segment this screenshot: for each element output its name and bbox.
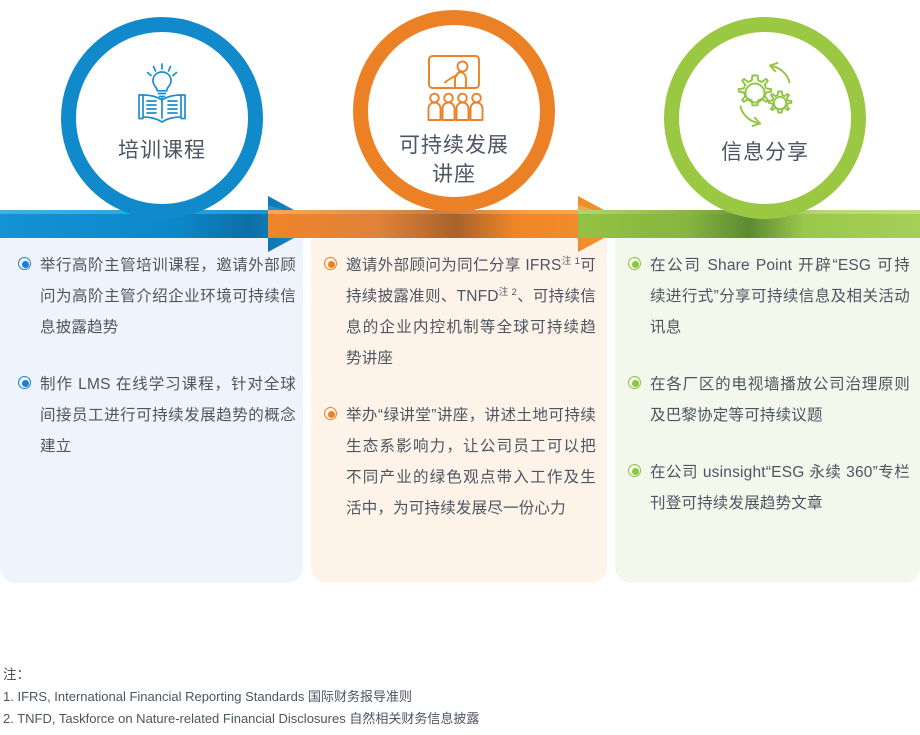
step-circle-sharing[interactable]: 信息分享 [664, 17, 866, 219]
list-item: 举行高阶主管培训课程，邀请外部顾问为高阶主管介绍企业环境可持续信息披露趋势 [18, 250, 296, 343]
list-item-text: 在各厂区的电视墙播放公司治理原则及巴黎协定等可持续议题 [650, 369, 910, 431]
list-item: 在公司 Share Point 开辟“ESG 可持续进行式”分享可持续信息及相关… [628, 250, 910, 343]
step-title-lecture-line2: 讲座 [399, 160, 509, 189]
open-book-lightbulb-icon [128, 60, 196, 126]
footnote-ref-ifrs: 注 1 [562, 256, 581, 267]
bullet-marker-icon [18, 376, 31, 389]
bullet-marker-icon [628, 257, 641, 270]
footnote-item: 1. IFRS, International Financial Reporti… [3, 686, 479, 708]
bullet-marker-icon [18, 257, 31, 270]
list-item: 制作 LMS 在线学习课程，针对全球间接员工进行可持续发展趋势的概念建立 [18, 369, 296, 462]
list-item-text-part: 邀请外部顾问为同仁分享 IFRS [346, 257, 562, 274]
infographic-root: 培训课程 [0, 0, 920, 735]
step-title-sharing: 信息分享 [721, 138, 809, 167]
bullet-marker-icon [628, 376, 641, 389]
list-item-text: 制作 LMS 在线学习课程，针对全球间接员工进行可持续发展趋势的概念建立 [40, 369, 296, 462]
list-item-text: 在公司 usinsight“ESG 永续 360”专栏刊登可持续发展趋势文章 [650, 457, 910, 519]
list-item-text: 举行高阶主管培训课程，邀请外部顾问为高阶主管介绍企业环境可持续信息披露趋势 [40, 250, 296, 343]
step-circle-training[interactable]: 培训课程 [61, 17, 263, 219]
footnotes-heading: 注： [3, 664, 479, 685]
bullet-marker-icon [324, 407, 337, 420]
list-item: 在各厂区的电视墙播放公司治理原则及巴黎协定等可持续议题 [628, 369, 910, 431]
bullet-list-lecture: 邀请外部顾问为同仁分享 IFRS注 1可持续披露准则、TNFD注 2、可持续信息… [324, 250, 596, 550]
footnote-item: 2. TNFD, Taskforce on Nature-related Fin… [3, 708, 479, 730]
presenter-whiteboard-audience-icon [417, 55, 491, 121]
step-title-training: 培训课程 [118, 136, 206, 165]
list-item: 在公司 usinsight“ESG 永续 360”专栏刊登可持续发展趋势文章 [628, 457, 910, 519]
bullet-list-training: 举行高阶主管培训课程，邀请外部顾问为高阶主管介绍企业环境可持续信息披露趋势 制作… [18, 250, 296, 488]
step-title-lecture: 可持续发展 讲座 [399, 131, 509, 189]
bullet-list-sharing: 在公司 Share Point 开辟“ESG 可持续进行式”分享可持续信息及相关… [628, 250, 910, 545]
list-item-text: 邀请外部顾问为同仁分享 IFRS注 1可持续披露准则、TNFD注 2、可持续信息… [346, 250, 596, 374]
list-item-text: 举办“绿讲堂”讲座，讲述土地可持续生态系影响力，让公司员工可以把不同产业的绿色观… [346, 400, 596, 524]
gears-cycle-arrows-icon [727, 62, 803, 128]
list-item: 邀请外部顾问为同仁分享 IFRS注 1可持续披露准则、TNFD注 2、可持续信息… [324, 250, 596, 374]
list-item-text: 在公司 Share Point 开辟“ESG 可持续进行式”分享可持续信息及相关… [650, 250, 910, 343]
footnote-ref-tnfd: 注 2 [499, 287, 517, 298]
bullet-marker-icon [324, 257, 337, 270]
step-circle-lecture[interactable]: 可持续发展 讲座 [353, 10, 555, 212]
bullet-marker-icon [628, 464, 641, 477]
step-title-lecture-line1: 可持续发展 [399, 131, 509, 160]
list-item: 举办“绿讲堂”讲座，讲述土地可持续生态系影响力，让公司员工可以把不同产业的绿色观… [324, 400, 596, 524]
footnotes: 注： 1. IFRS, International Financial Repo… [3, 664, 479, 730]
